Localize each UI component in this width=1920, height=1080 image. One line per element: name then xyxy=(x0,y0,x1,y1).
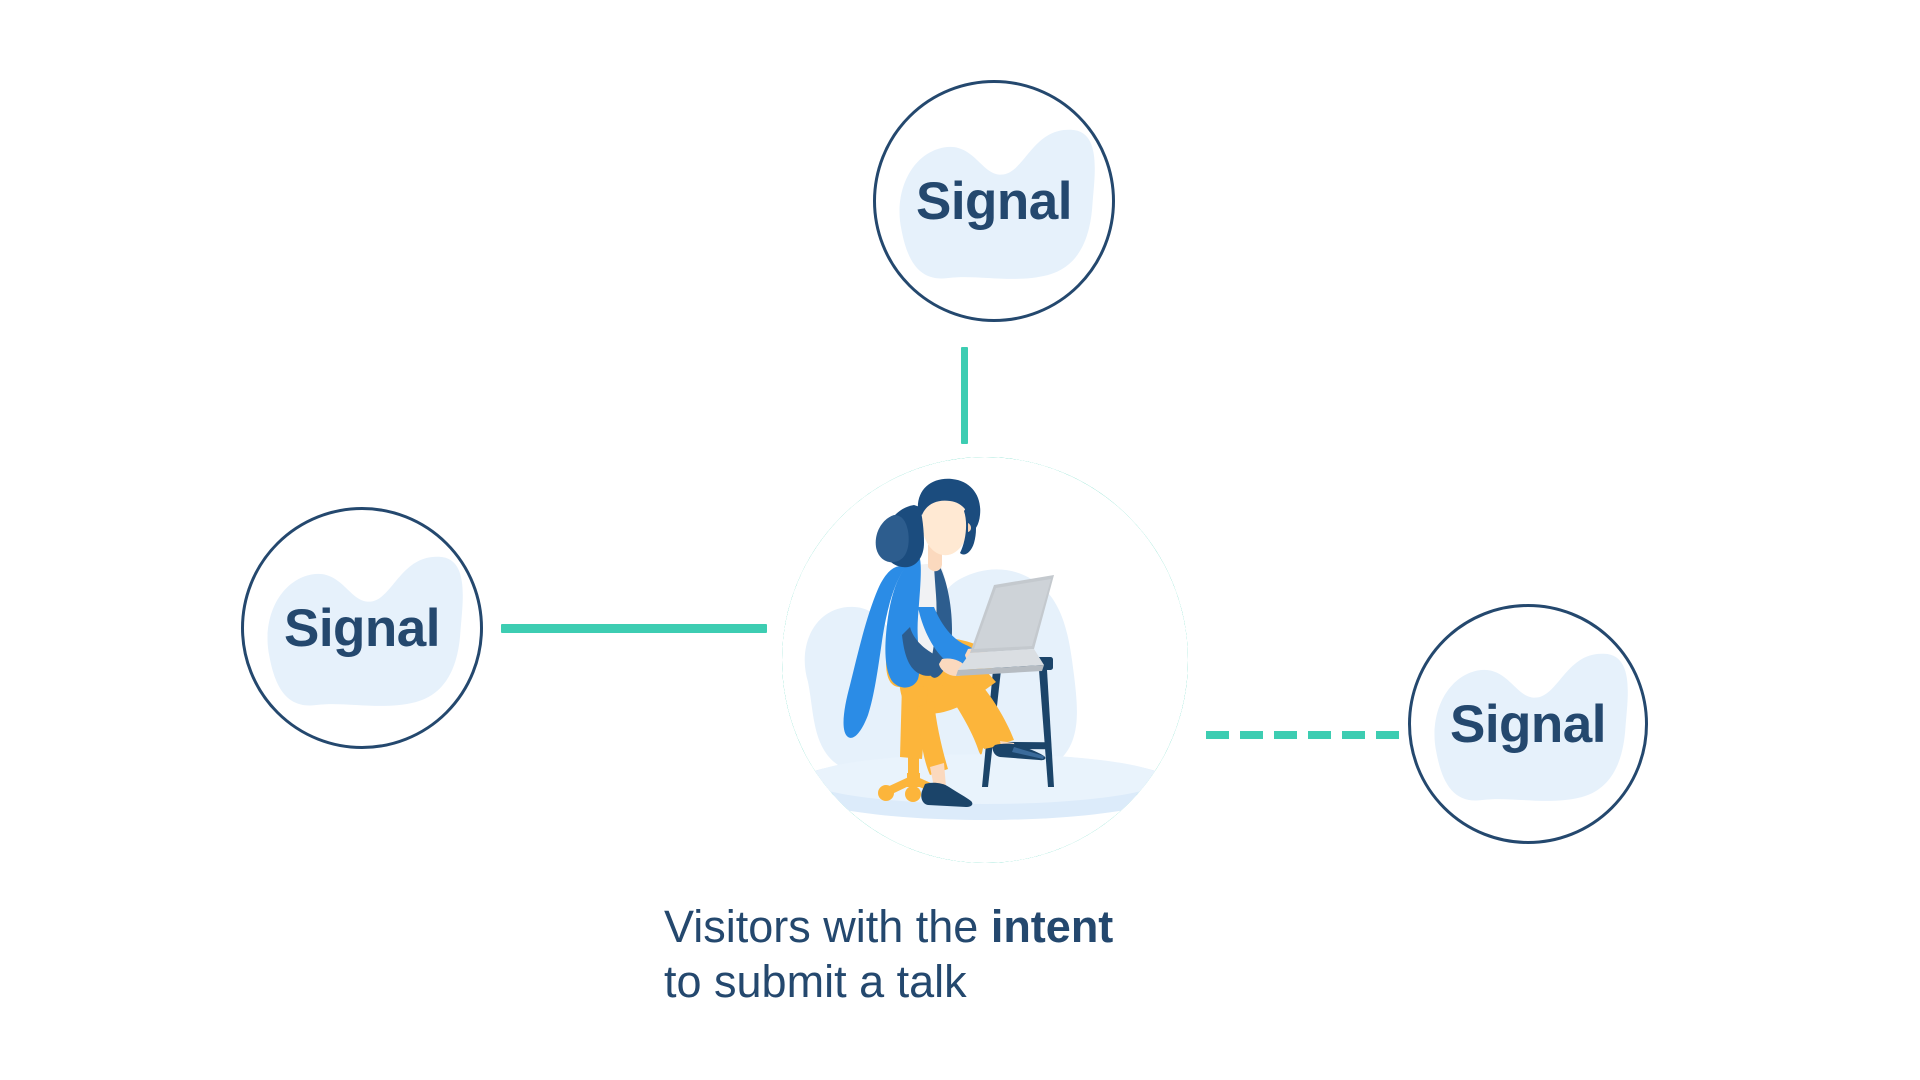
signal-node-top-label: Signal xyxy=(916,175,1072,228)
connector-center-to-right-dashed xyxy=(1206,731,1411,739)
connector-top-to-center xyxy=(961,347,968,444)
caption-line-1: Visitors with the intent xyxy=(664,900,1364,955)
center-node-intent[interactable] xyxy=(782,457,1188,863)
caption-line1-prefix: Visitors with the xyxy=(664,901,991,952)
signal-node-top[interactable]: Signal xyxy=(873,80,1115,322)
woman-working-on-laptop-illustration xyxy=(782,457,1188,863)
illustration-svg xyxy=(782,457,1188,863)
signal-node-right[interactable]: Signal xyxy=(1408,604,1648,844)
caption-line1-bold: intent xyxy=(991,901,1113,952)
signal-node-left-label: Signal xyxy=(284,602,440,655)
connector-left-to-center xyxy=(501,624,767,633)
signal-node-right-label: Signal xyxy=(1450,698,1606,751)
signal-intent-diagram: Signal Signal Signal xyxy=(0,0,1920,1080)
caption-line-2: to submit a talk xyxy=(664,955,1364,1010)
signal-node-left[interactable]: Signal xyxy=(241,507,483,749)
caption-text: Visitors with the intent to submit a tal… xyxy=(664,900,1364,1010)
